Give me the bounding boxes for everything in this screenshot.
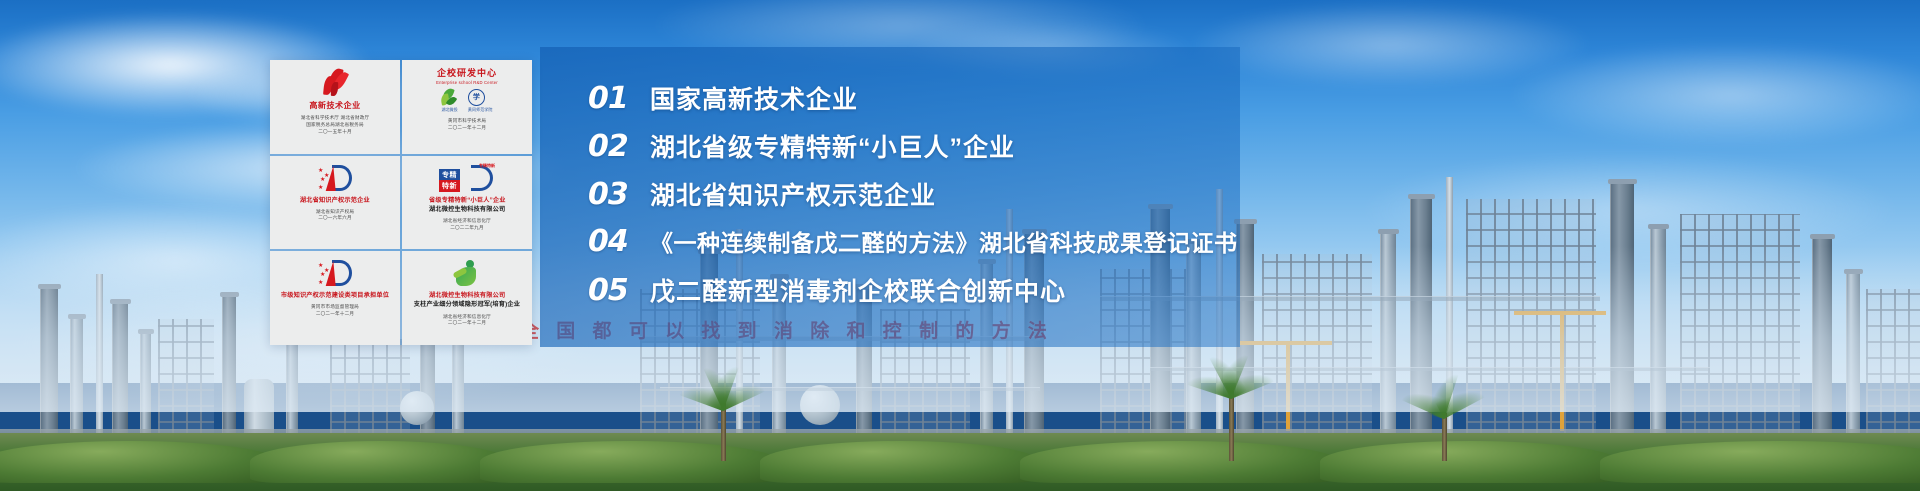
certificate-card[interactable]: ★★★★ 湖北省知识产权示范企业 湖北省知识产权局 二〇一六年六月: [270, 156, 400, 250]
green-figure-icon: [454, 257, 480, 291]
honor-label: 湖北省知识产权示范企业: [650, 176, 936, 212]
hedge: [760, 441, 1040, 483]
honor-label: 《一种连续制备戊二醛的方法》湖北省科技成果登记证书: [650, 224, 1238, 258]
honor-item[interactable]: 04 《一种连续制备戊二醛的方法》湖北省科技成果登记证书: [588, 224, 1238, 272]
leaf-icon: [441, 88, 457, 106]
issuer-line: 国家税务总局湖北省税务局: [301, 122, 370, 129]
honor-item[interactable]: 01 国家高新技术企业: [588, 80, 1238, 128]
certificate-card[interactable]: 高新技术企业 湖北省科学技术厅 湖北省财政厅 国家税务总局湖北省税务局 二〇一五…: [270, 60, 400, 154]
hedge: [250, 441, 510, 483]
certificate-issuer: 湖北省知识产权局 二〇一六年六月: [316, 209, 354, 222]
certificate-grid: 高新技术企业 湖北省科学技术厅 湖北省财政厅 国家税务总局湖北省税务局 二〇一五…: [270, 60, 532, 345]
hedge: [1600, 441, 1920, 483]
zhuanjing-texin-icon: 专精 特新 专精特新: [439, 162, 495, 196]
certificate-card[interactable]: ★★★★ 市级知识产权示范建设类项目承担单位 黄冈市市场监督管理局 二〇二一年十…: [270, 251, 400, 345]
issuer-date: 二〇二一年十二月: [443, 320, 491, 327]
certificate-issuer: 湖北省经济和信息化厅 二〇二二年九月: [443, 218, 491, 231]
partner-name: 黄冈师范学院: [468, 107, 493, 113]
certificate-card[interactable]: 湖北微控生物科技有限公司 支柱产业细分领域隐形冠军(培育)企业 湖北省经济和信息…: [402, 251, 532, 345]
certificate-issuer: 黄冈市科学技术局 二〇二一年十二月: [448, 118, 486, 131]
honor-label: 湖北省级专精特新“小巨人”企业: [650, 128, 1015, 164]
honor-label: 戊二醛新型消毒剂企校联合创新中心: [650, 272, 1066, 308]
honor-label: 国家高新技术企业: [650, 80, 858, 116]
issuer-line: 湖北省经济和信息化厅: [443, 218, 491, 225]
certificate-line-1: 支柱产业细分领域隐形冠军(培育)企业: [414, 302, 520, 309]
issuer-line: 湖北省科学技术厅 湖北省财政厅: [301, 115, 370, 122]
certificate-line-1: 省级专精特新“小巨人”企业: [429, 197, 506, 204]
issuer-date: 二〇二一年十二月: [448, 125, 486, 132]
flame-icon: [321, 66, 349, 100]
sail-star-icon: ★★★★: [318, 162, 352, 196]
honor-number: 01: [588, 81, 650, 116]
certificate-line-2: 湖北微控生物科技有限公司: [429, 206, 505, 213]
honor-number: 04: [588, 224, 650, 259]
badge-label-2: 特新: [439, 180, 460, 192]
hedge: [1020, 441, 1340, 483]
honors-list: 01 国家高新技术企业 02 湖北省级专精特新“小巨人”企业 03 湖北省知识产…: [588, 80, 1238, 320]
certificate-issuer: 湖北省经济和信息化厅 二〇二一年十二月: [443, 314, 491, 327]
certificate-issuer: 湖北省科学技术厅 湖北省财政厅 国家税务总局湖北省税务局 二〇一五年十月: [301, 115, 370, 135]
honor-number: 03: [588, 177, 650, 212]
palm-tree: [1424, 409, 1464, 461]
issuer-line: 黄冈市科学技术局: [448, 118, 486, 125]
issuer-date: 二〇一五年十月: [301, 129, 370, 136]
partner-name: 湖北微投: [441, 107, 457, 113]
certificate-title: 市级知识产权示范建设类项目承担单位: [281, 293, 389, 300]
palm-tree: [700, 401, 746, 461]
honor-item[interactable]: 05 戊二醛新型消毒剂企校联合创新中心: [588, 272, 1238, 320]
honor-item[interactable]: 02 湖北省级专精特新“小巨人”企业: [588, 128, 1238, 176]
certificate-title-en: Enterprise school R&D Center: [436, 80, 498, 85]
certificate-title: 湖北省知识产权示范企业: [300, 197, 370, 204]
partner-marks: 湖北微投 学 黄冈师范学院: [441, 88, 492, 113]
certificate-title: 高新技术企业: [309, 101, 360, 110]
certificate-card[interactable]: 专精 特新 专精特新 省级专精特新“小巨人”企业 湖北微控生物科技有限公司 湖北…: [402, 156, 532, 250]
certificate-title: 企校研发中心: [437, 66, 497, 79]
university-seal-icon: 学: [468, 89, 485, 106]
honor-item[interactable]: 03 湖北省知识产权示范企业: [588, 176, 1238, 224]
certificate-title: 湖北微控生物科技有限公司: [429, 293, 505, 300]
hedge: [1320, 441, 1620, 483]
issuer-date: 二〇二一年十二月: [311, 311, 359, 318]
palm-tree: [1208, 391, 1254, 461]
honor-number: 02: [588, 129, 650, 164]
certificate-issuer: 黄冈市市场监督管理局 二〇二一年十二月: [311, 304, 359, 317]
issuer-date: 二〇二二年九月: [443, 225, 491, 232]
issuer-date: 二〇一六年六月: [316, 215, 354, 222]
hedge: [0, 441, 280, 483]
certificate-card[interactable]: 企校研发中心 Enterprise school R&D Center 湖北微投…: [402, 60, 532, 154]
sail-star-icon: ★★★★: [318, 257, 352, 291]
honor-number: 05: [588, 273, 650, 308]
